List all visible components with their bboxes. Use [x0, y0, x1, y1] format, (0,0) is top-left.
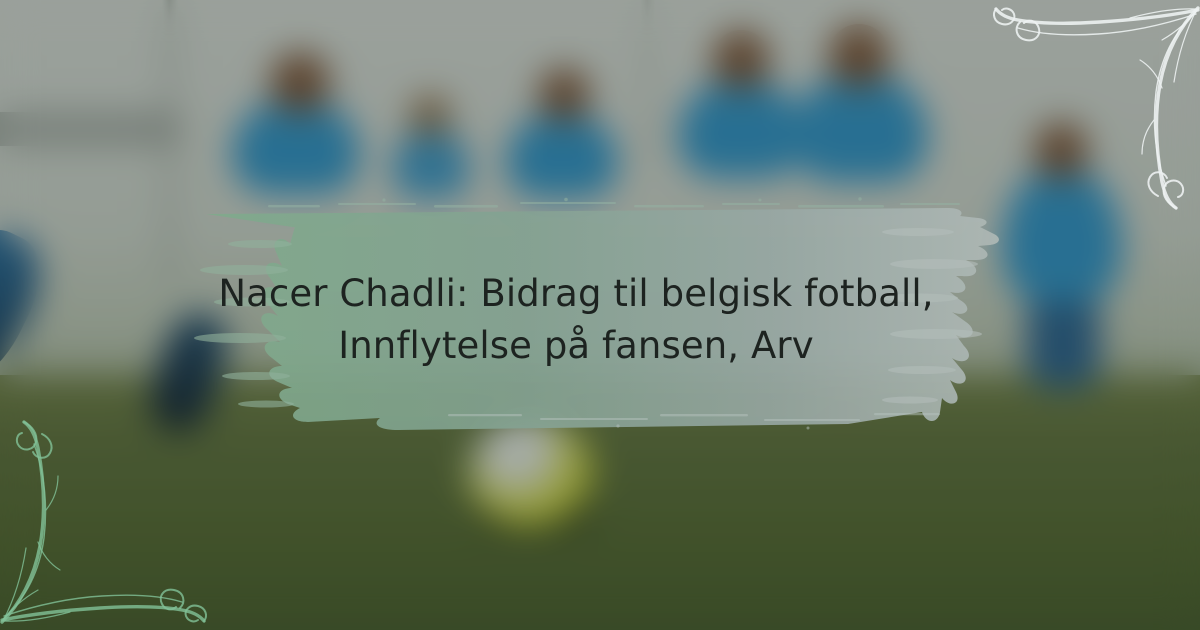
title-line-1: Nacer Chadli: Bidrag til belgisk fotball… [192, 268, 960, 320]
share-card: Nacer Chadli: Bidrag til belgisk fotball… [0, 0, 1200, 630]
title-banner: Nacer Chadli: Bidrag til belgisk fotball… [148, 198, 1004, 438]
banner-title: Nacer Chadli: Bidrag til belgisk fotball… [148, 268, 1004, 372]
title-line-2: Innflytelse på fansen, Arv [192, 320, 960, 372]
